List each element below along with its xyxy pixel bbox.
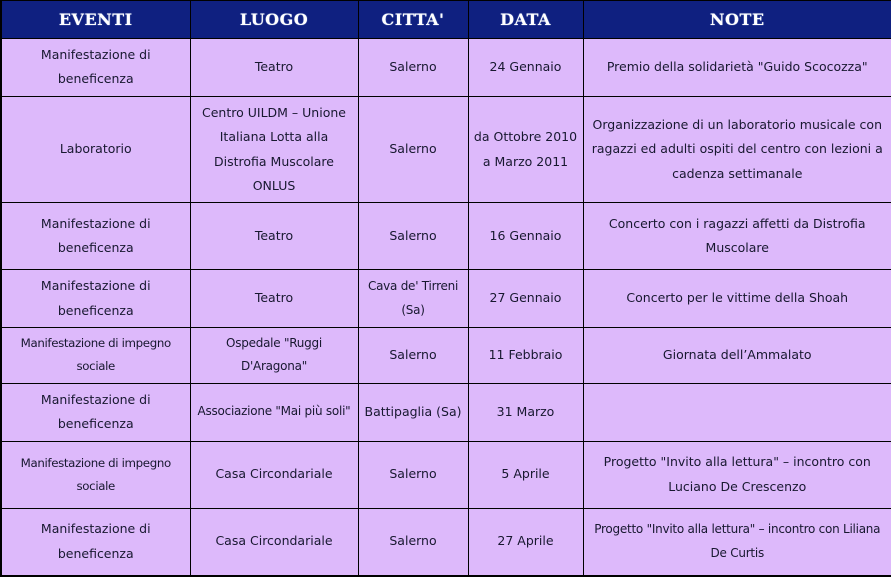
cell-data: 24 Gennaio: [468, 39, 583, 97]
cell-citta: Salerno: [358, 508, 468, 576]
column-header-citta: CITTA': [358, 1, 468, 39]
table-row: Manifestazione di beneficenza Casa Circo…: [1, 508, 891, 576]
cell-data: 5 Aprile: [468, 441, 583, 508]
table-body: Manifestazione di beneficenza Teatro Sal…: [1, 39, 891, 576]
cell-citta: Cava de' Tirreni (Sa): [358, 270, 468, 328]
cell-data: 27 Gennaio: [468, 270, 583, 328]
cell-note: Concerto con i ragazzi affetti da Distro…: [583, 203, 891, 270]
cell-luogo: Teatro: [190, 39, 358, 97]
table-row: Manifestazione di impegno sociale Ospeda…: [1, 328, 891, 384]
table-row: Manifestazione di beneficenza Teatro Cav…: [1, 270, 891, 328]
cell-citta: Salerno: [358, 39, 468, 97]
cell-note: Giornata dell’Ammalato: [583, 328, 891, 384]
cell-data: 16 Gennaio: [468, 203, 583, 270]
table-row: Manifestazione di beneficenza Teatro Sal…: [1, 203, 891, 270]
cell-data: 11 Febbraio: [468, 328, 583, 384]
header-row: EVENTI LUOGO CITTA' DATA NOTE: [1, 1, 891, 39]
table-row: Manifestazione di impegno sociale Casa C…: [1, 441, 891, 508]
table-row: Manifestazione di beneficenza Teatro Sal…: [1, 39, 891, 97]
table-row: Manifestazione di beneficenza Associazio…: [1, 383, 891, 441]
cell-luogo: Teatro: [190, 270, 358, 328]
cell-eventi: Manifestazione di beneficenza: [1, 508, 190, 576]
table-row: Laboratorio Centro UILDM – Unione Italia…: [1, 96, 891, 203]
cell-eventi: Manifestazione di impegno sociale: [1, 328, 190, 384]
cell-citta: Salerno: [358, 328, 468, 384]
cell-luogo: Ospedale "Ruggi D'Aragona": [190, 328, 358, 384]
column-header-note: NOTE: [583, 1, 891, 39]
cell-data: da Ottobre 2010 a Marzo 2011: [468, 96, 583, 203]
cell-note: Organizzazione di un laboratorio musical…: [583, 96, 891, 203]
cell-note: Progetto "Invito alla lettura" – incontr…: [583, 508, 891, 576]
cell-citta: Salerno: [358, 203, 468, 270]
cell-eventi: Manifestazione di beneficenza: [1, 39, 190, 97]
cell-note: Premio della solidarietà "Guido Scocozza…: [583, 39, 891, 97]
cell-eventi: Manifestazione di beneficenza: [1, 270, 190, 328]
cell-luogo: Centro UILDM – Unione Italiana Lotta all…: [190, 96, 358, 203]
column-header-luogo: LUOGO: [190, 1, 358, 39]
cell-note: Concerto per le vittime della Shoah: [583, 270, 891, 328]
cell-eventi: Manifestazione di beneficenza: [1, 383, 190, 441]
cell-luogo: Casa Circondariale: [190, 508, 358, 576]
events-table: EVENTI LUOGO CITTA' DATA NOTE Manifestaz…: [0, 0, 891, 577]
cell-note: [583, 383, 891, 441]
cell-eventi: Manifestazione di impegno sociale: [1, 441, 190, 508]
cell-luogo: Associazione "Mai più soli": [190, 383, 358, 441]
cell-note: Progetto "Invito alla lettura" – incontr…: [583, 441, 891, 508]
cell-citta: Battipaglia (Sa): [358, 383, 468, 441]
cell-eventi: Manifestazione di beneficenza: [1, 203, 190, 270]
column-header-data: DATA: [468, 1, 583, 39]
table-header: EVENTI LUOGO CITTA' DATA NOTE: [1, 1, 891, 39]
cell-eventi: Laboratorio: [1, 96, 190, 203]
cell-data: 31 Marzo: [468, 383, 583, 441]
cell-data: 27 Aprile: [468, 508, 583, 576]
column-header-eventi: EVENTI: [1, 1, 190, 39]
cell-luogo: Teatro: [190, 203, 358, 270]
cell-luogo: Casa Circondariale: [190, 441, 358, 508]
cell-citta: Salerno: [358, 441, 468, 508]
cell-citta: Salerno: [358, 96, 468, 203]
